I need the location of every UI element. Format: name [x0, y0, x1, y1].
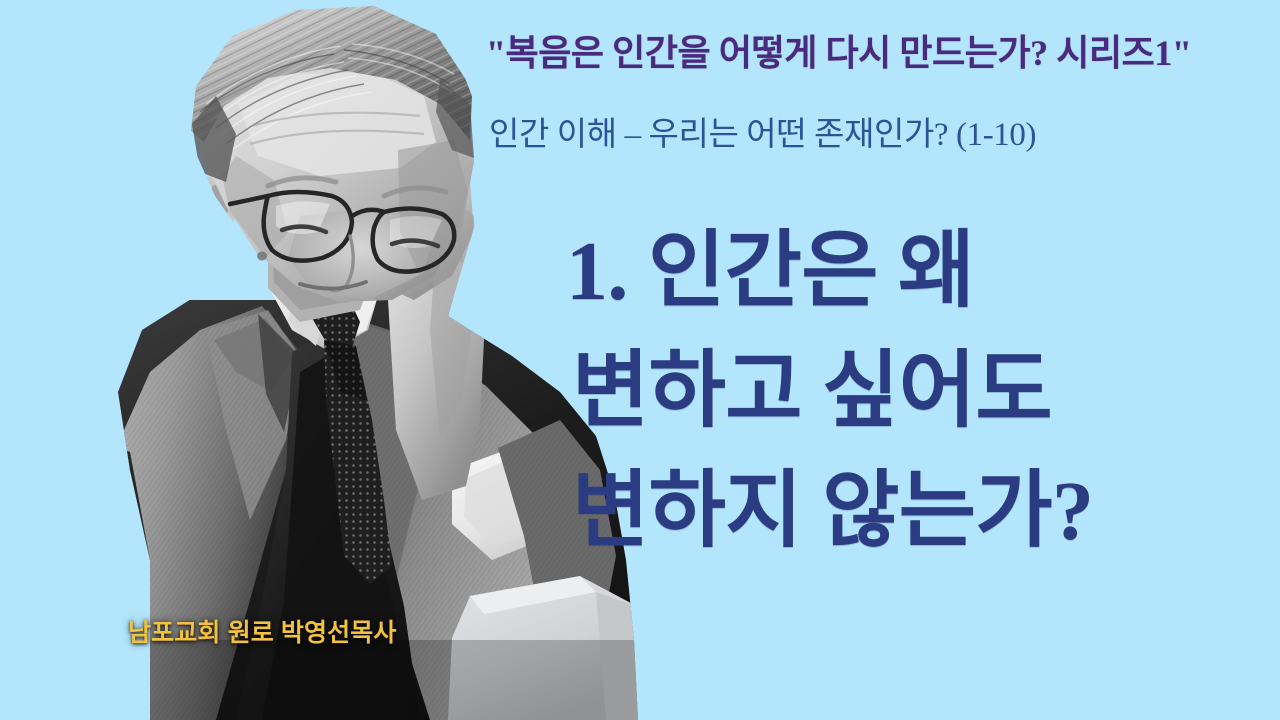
series-subtitle: 인간 이해 – 우리는 어떤 존재인가? (1-10) — [489, 117, 1249, 154]
speaker-portrait-photo — [0, 0, 640, 720]
headline-line-3: 변하지 않는가? — [566, 452, 1266, 572]
thumbnail-canvas: "복음은 인간을 어떻게 다시 만드는가? 시리즈1" 인간 이해 – 우리는 … — [0, 0, 1280, 720]
portrait-illustration — [0, 0, 640, 720]
headline-line-1: 1. 인간은 왜 — [566, 212, 1266, 332]
series-title: "복음은 인간을 어떻게 다시 만드는가? 시리즈1" — [486, 33, 1256, 73]
main-headline: 1. 인간은 왜 변하고 싶어도 변하지 않는가? — [566, 212, 1266, 572]
headline-line-2: 변하고 싶어도 — [566, 332, 1266, 452]
speaker-caption: 남포교회 원로 박영선목사 — [128, 613, 397, 649]
